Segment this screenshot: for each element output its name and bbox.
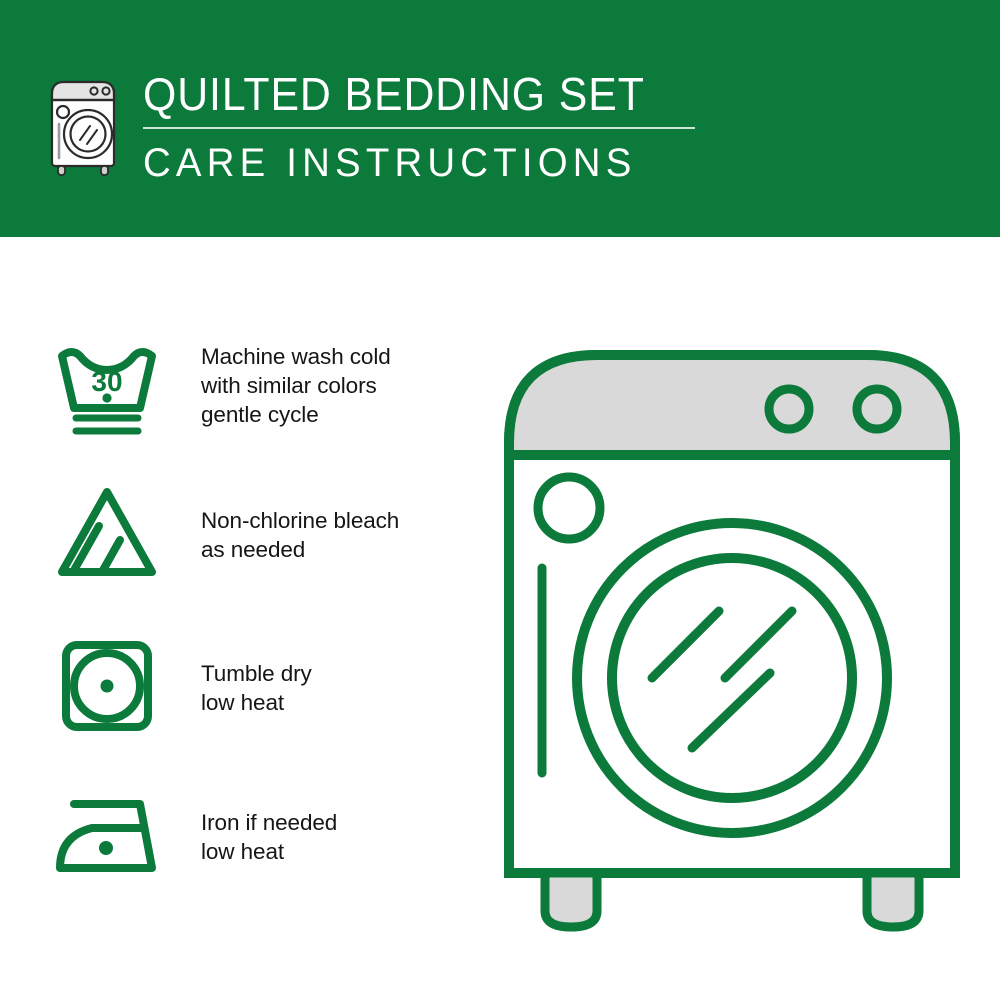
care-instruction-list: 30 Machine wash cold with similar colors…: [0, 237, 480, 1000]
wash-temperature-label: 30: [91, 366, 122, 397]
washing-machine-illustration: [487, 333, 977, 933]
wash-tub-30-icon: 30: [48, 338, 166, 442]
care-text-line: as needed: [201, 535, 399, 564]
care-instruction-item: Iron if needed low heat: [0, 790, 480, 882]
care-text-line: low heat: [201, 837, 337, 866]
care-instruction-text: Tumble dry low heat: [201, 637, 312, 717]
care-instruction-text: Iron if needed low heat: [201, 790, 337, 866]
care-instructions-card: QUILTED BEDDING SET CARE INSTRUCTIONS 30: [0, 0, 1000, 1000]
page-title: QUILTED BEDDING SET: [143, 68, 720, 120]
care-instruction-item: Non-chlorine bleach as needed: [0, 482, 480, 582]
header-titles: QUILTED BEDDING SET CARE INSTRUCTIONS: [143, 68, 763, 186]
care-text-line: with similar colors: [201, 371, 391, 400]
care-instruction-item: Tumble dry low heat: [0, 637, 480, 737]
header-band: QUILTED BEDDING SET CARE INSTRUCTIONS: [0, 0, 1000, 237]
machine-control-panel: [509, 355, 955, 455]
care-text-line: Iron if needed: [201, 808, 337, 837]
care-instruction-text: Machine wash cold with similar colors ge…: [201, 338, 391, 429]
non-chlorine-bleach-triangle-icon: [48, 482, 166, 582]
care-text-line: low heat: [201, 688, 312, 717]
title-divider: [143, 127, 695, 129]
washing-machine-icon: [44, 66, 130, 176]
care-instruction-item: 30 Machine wash cold with similar colors…: [0, 338, 480, 442]
machine-leg: [545, 873, 597, 927]
machine-leg: [867, 873, 919, 927]
care-text-line: Machine wash cold: [201, 342, 391, 371]
iron-low-heat-icon: [48, 790, 166, 882]
page-subtitle: CARE INSTRUCTIONS: [143, 140, 738, 186]
care-text-line: Non-chlorine bleach: [201, 506, 399, 535]
care-instruction-text: Non-chlorine bleach as needed: [201, 482, 399, 564]
care-text-line: gentle cycle: [201, 400, 391, 429]
care-text-line: Tumble dry: [201, 659, 312, 688]
tumble-dry-low-icon: [48, 637, 166, 737]
